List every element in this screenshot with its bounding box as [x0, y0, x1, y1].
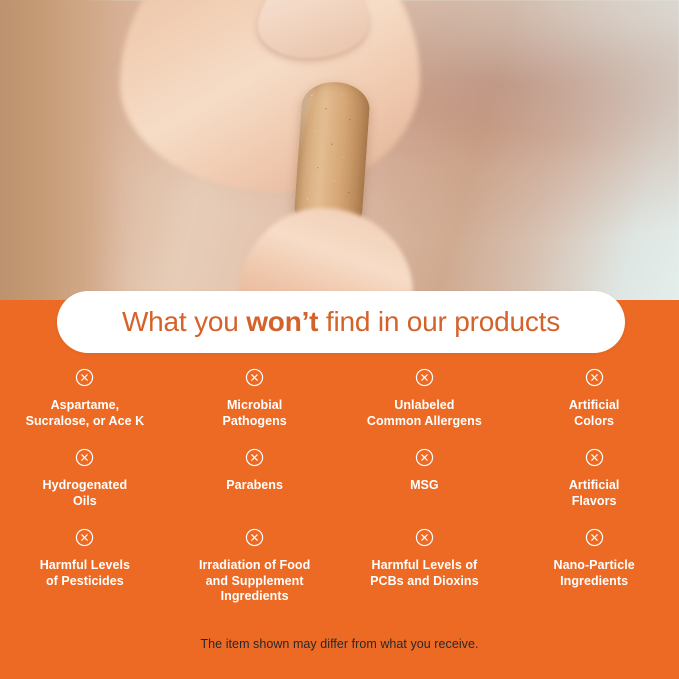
circle-x-icon [75, 528, 94, 547]
heading-pill: What you won’t find in our products [57, 291, 625, 353]
exclusions-row: Harmful Levelsof Pesticides Irradiation … [0, 528, 679, 612]
exclusion-item: Harmful Levelsof Pesticides [0, 528, 170, 612]
circle-x-icon [75, 368, 94, 387]
hero-photo [0, 0, 679, 302]
exclusions-grid: Aspartame,Sucralose, or Ace K MicrobialP… [0, 368, 679, 612]
exclusion-label: Harmful Levelsof Pesticides [40, 558, 130, 589]
exclusion-label: UnlabeledCommon Allergens [367, 398, 482, 429]
exclusions-row: Aspartame,Sucralose, or Ace K MicrobialP… [0, 368, 679, 448]
circle-x-icon [75, 448, 94, 467]
exclusion-label: Parabens [226, 478, 283, 494]
circle-x-icon [585, 368, 604, 387]
exclusion-item: HydrogenatedOils [0, 448, 170, 528]
exclusion-item: Harmful Levels ofPCBs and Dioxins [340, 528, 510, 612]
exclusion-item: ArtificialColors [509, 368, 679, 448]
exclusion-item: MicrobialPathogens [170, 368, 340, 448]
photo-forearm [0, 0, 130, 302]
circle-x-icon [585, 528, 604, 547]
exclusion-label: ArtificialColors [569, 398, 620, 429]
circle-x-icon [415, 368, 434, 387]
circle-x-icon [245, 448, 264, 467]
exclusion-label: Aspartame,Sucralose, or Ace K [26, 398, 145, 429]
circle-x-icon [415, 528, 434, 547]
circle-x-icon [245, 368, 264, 387]
exclusion-label: ArtificialFlavors [569, 478, 620, 509]
exclusion-label: Nano-ParticleIngredients [554, 558, 635, 589]
disclaimer-text: The item shown may differ from what you … [0, 637, 679, 651]
page-title: What you won’t find in our products [122, 306, 560, 338]
heading-suffix: find in our products [318, 306, 560, 337]
exclusion-item: Irradiation of Foodand SupplementIngredi… [170, 528, 340, 612]
circle-x-icon [415, 448, 434, 467]
product-claims-infographic: What you won’t find in our products Aspa… [0, 0, 679, 679]
exclusion-item: Nano-ParticleIngredients [509, 528, 679, 612]
exclusion-label: HydrogenatedOils [43, 478, 128, 509]
circle-x-icon [585, 448, 604, 467]
heading-emphasis: won’t [246, 306, 318, 337]
exclusion-label: Harmful Levels ofPCBs and Dioxins [370, 558, 478, 589]
exclusion-item: Parabens [170, 448, 340, 528]
exclusions-row: HydrogenatedOils Parabens MSG [0, 448, 679, 528]
circle-x-icon [245, 528, 264, 547]
exclusion-label: Irradiation of Foodand SupplementIngredi… [199, 558, 310, 605]
exclusion-item: UnlabeledCommon Allergens [340, 368, 510, 448]
exclusion-item: Aspartame,Sucralose, or Ace K [0, 368, 170, 448]
exclusion-item: ArtificialFlavors [509, 448, 679, 528]
exclusion-label: MSG [410, 478, 439, 494]
exclusion-item: MSG [340, 448, 510, 528]
exclusion-label: MicrobialPathogens [222, 398, 286, 429]
heading-prefix: What you [122, 306, 246, 337]
